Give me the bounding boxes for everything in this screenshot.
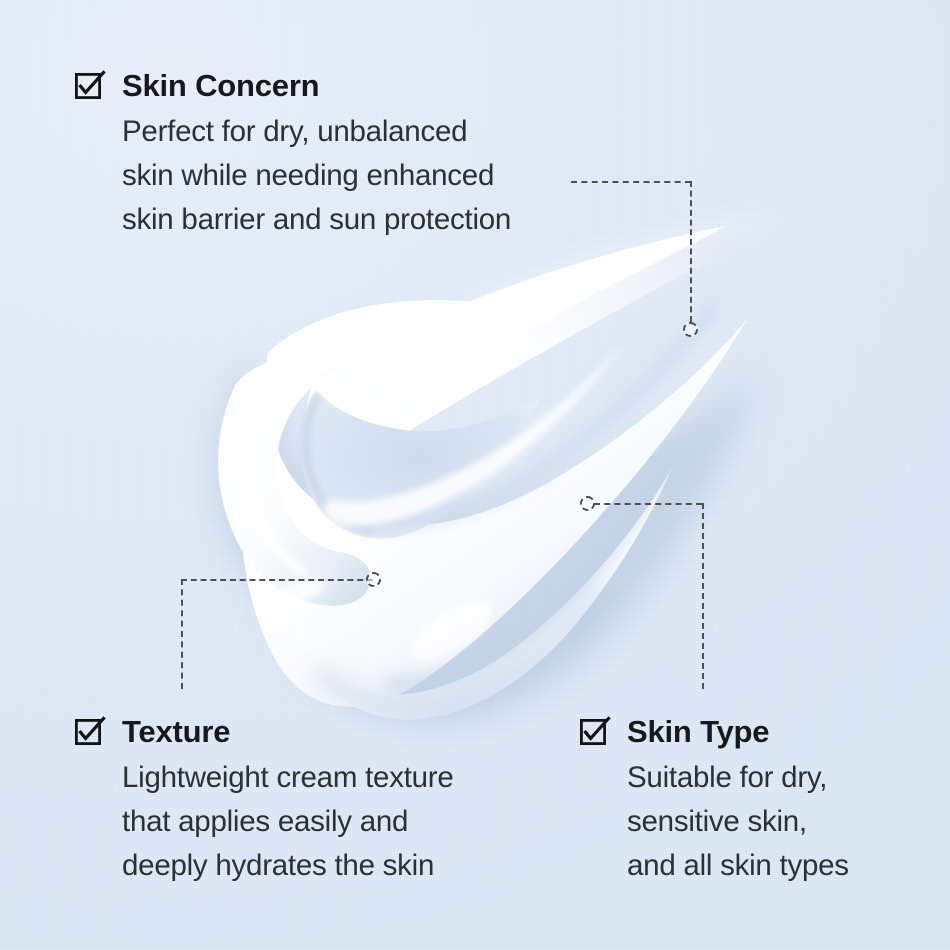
connector-texture-endpoint	[366, 572, 381, 587]
callout-skin-concern-line-3: skin barrier and sun protection	[122, 198, 511, 242]
callout-skin-concern: Skin Concern Perfect for dry, unbalanced…	[75, 66, 511, 242]
connector-skin-type-endpoint	[580, 496, 595, 511]
callout-skin-type-line-1: Suitable for dry,	[627, 756, 849, 800]
callout-skin-type: Skin Type Suitable for dry, sensitive sk…	[580, 712, 849, 888]
checkbox-checked-icon	[75, 73, 101, 99]
connector-skin-concern-vertical	[690, 181, 692, 322]
connector-texture-vertical	[181, 579, 183, 689]
callout-skin-concern-line-1: Perfect for dry, unbalanced	[122, 110, 511, 154]
callout-texture-line-2: that applies easily and	[122, 800, 454, 844]
callout-skin-type-line-2: sensitive skin,	[627, 800, 849, 844]
connector-skin-type-horizontal	[594, 503, 702, 505]
callout-texture-line-1: Lightweight cream texture	[122, 756, 454, 800]
callout-skin-type-title: Skin Type	[627, 712, 769, 752]
callout-skin-type-line-3: and all skin types	[627, 844, 849, 888]
product-feature-callout-image: Skin Concern Perfect for dry, unbalanced…	[0, 0, 950, 950]
callout-texture-header: Texture	[75, 712, 454, 752]
callout-skin-type-header: Skin Type	[580, 712, 849, 752]
connector-skin-concern-horizontal	[571, 181, 691, 183]
connector-skin-concern-endpoint	[683, 322, 698, 337]
callout-skin-concern-body: Perfect for dry, unbalanced skin while n…	[75, 110, 511, 242]
callout-skin-type-body: Suitable for dry, sensitive skin, and al…	[580, 756, 849, 888]
callout-skin-concern-line-2: skin while needing enhanced	[122, 154, 511, 198]
callout-texture-line-3: deeply hydrates the skin	[122, 844, 454, 888]
callout-skin-concern-header: Skin Concern	[75, 66, 511, 106]
checkbox-checked-icon	[75, 719, 101, 745]
connector-skin-type-vertical	[702, 503, 704, 689]
callout-texture: Texture Lightweight cream texture that a…	[75, 712, 454, 888]
callout-texture-title: Texture	[122, 712, 230, 752]
checkbox-checked-icon	[580, 719, 606, 745]
connector-texture-horizontal	[181, 579, 373, 581]
callout-texture-body: Lightweight cream texture that applies e…	[75, 756, 454, 888]
callout-skin-concern-title: Skin Concern	[122, 66, 319, 106]
